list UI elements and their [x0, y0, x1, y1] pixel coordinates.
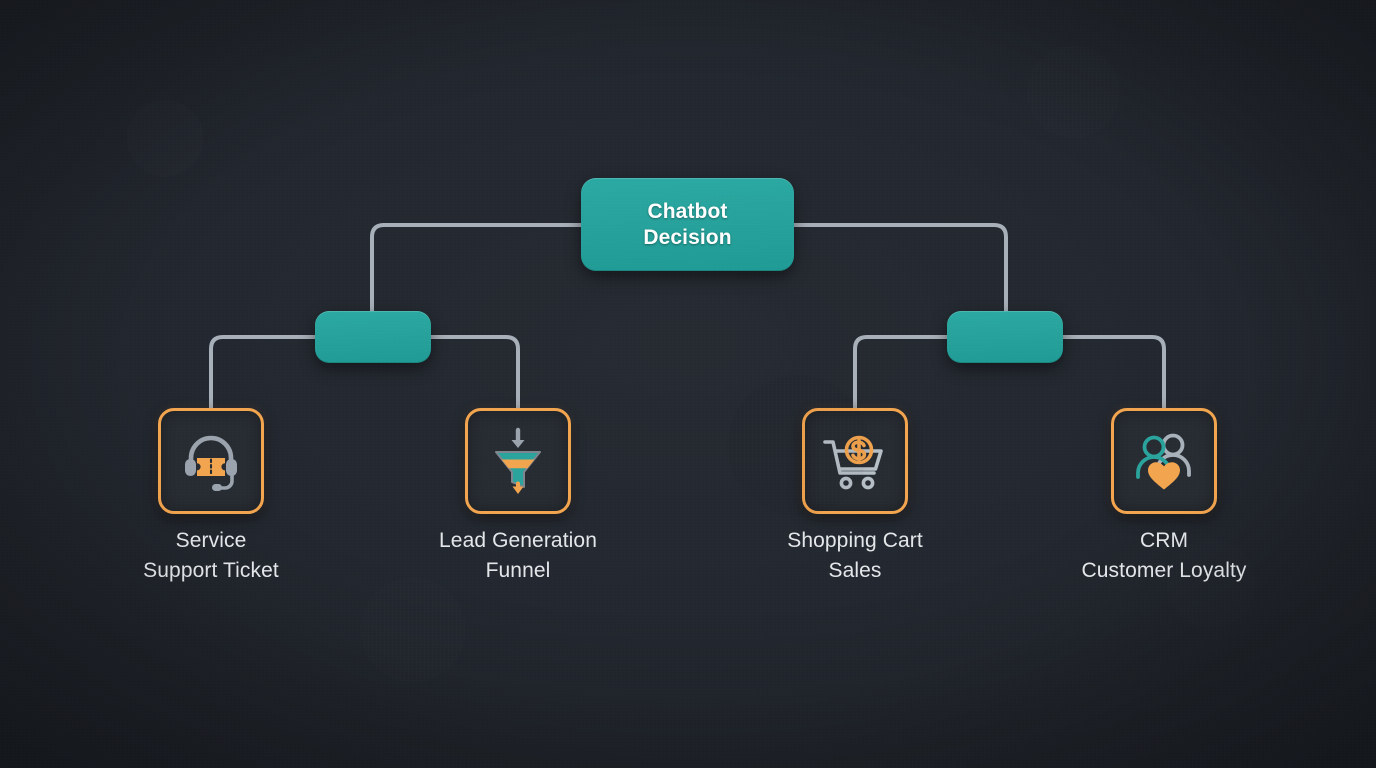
branch-node-left[interactable]	[315, 311, 431, 363]
branch-node-right[interactable]	[947, 311, 1063, 363]
background-vignette	[0, 0, 1376, 768]
headset-ticket-icon	[175, 425, 247, 497]
leaf-label-service-support-ticket: Service Support Ticket	[61, 526, 361, 586]
customers-heart-icon	[1128, 425, 1200, 497]
leaf-card-lead-generation-funnel[interactable]	[465, 408, 571, 514]
leaf-card-crm-customer-loyalty[interactable]	[1111, 408, 1217, 514]
shopping-cart-dollar-icon	[819, 425, 891, 497]
leaf-label-lead-generation-funnel: Lead Generation Funnel	[368, 526, 668, 586]
leaf-label-crm-customer-loyalty: CRM Customer Loyalty	[1014, 526, 1314, 586]
root-node-chatbot-decision[interactable]: Chatbot Decision	[581, 178, 794, 271]
edge-left-branch-to-leaf-0	[211, 337, 315, 415]
leaf-card-shopping-cart-sales[interactable]	[802, 408, 908, 514]
edge-left-branch-to-leaf-1	[431, 337, 518, 415]
edge-right-branch-to-leaf-3	[1063, 337, 1164, 415]
connector-edges	[0, 0, 1376, 768]
root-node-label: Chatbot Decision	[643, 199, 731, 250]
edge-root-to-left-branch	[372, 225, 581, 313]
leaf-label-shopping-cart-sales: Shopping Cart Sales	[705, 526, 1005, 586]
background-texture	[0, 0, 1376, 768]
diagram-canvas: Chatbot Decision	[0, 0, 1376, 768]
edge-root-to-right-branch	[794, 225, 1006, 313]
leaf-card-service-support-ticket[interactable]	[158, 408, 264, 514]
edge-right-branch-to-leaf-2	[855, 337, 947, 415]
funnel-icon	[482, 425, 554, 497]
